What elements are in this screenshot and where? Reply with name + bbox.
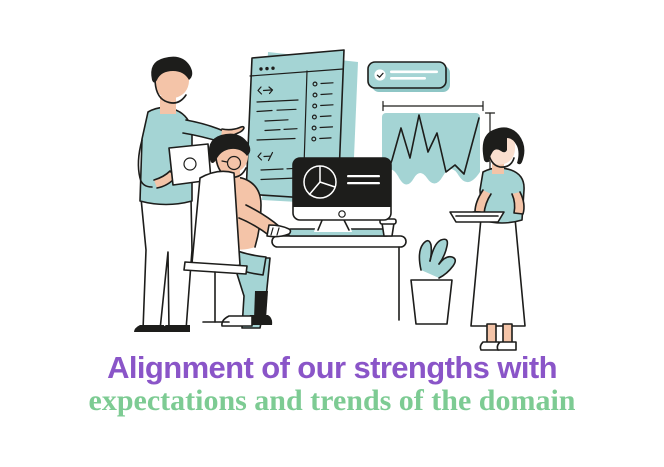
- notification-line-1: [390, 71, 438, 74]
- notification-line-2: [390, 77, 426, 80]
- desktop-monitor[interactable]: [293, 158, 391, 232]
- plant-leaves: [419, 239, 455, 278]
- illustration-svg: .ln { fill:none; stroke:#1d1d1b; stroke-…: [0, 0, 664, 360]
- laptop-held[interactable]: [450, 212, 504, 222]
- man-shoe-left: [134, 325, 164, 332]
- plant-pot-fill: [411, 280, 452, 324]
- woman-shoe-left: [480, 342, 499, 350]
- illustration-artwork: .ln { fill:none; stroke:#1d1d1b; stroke-…: [0, 0, 664, 360]
- desk: [272, 236, 406, 320]
- chart-top-bracket: [383, 102, 483, 111]
- seated-sock: [254, 291, 268, 319]
- slide-root: .ln { fill:none; stroke:#1d1d1b; stroke-…: [0, 0, 664, 467]
- line-chart-board[interactable]: [382, 102, 495, 205]
- potted-plant: [411, 239, 455, 324]
- monitor-text-line-1: [347, 175, 380, 177]
- woman-shoe-right: [497, 342, 516, 350]
- laptop-base: [450, 212, 504, 222]
- caption-line-secondary: expectations and trends of the domain: [0, 385, 664, 417]
- monitor-text-line-2: [347, 182, 380, 184]
- notification-card[interactable]: [368, 62, 450, 92]
- man-shoe-right: [160, 325, 190, 332]
- check-circle-icon: [374, 69, 385, 80]
- caption: Alignment of our strengths with expectat…: [0, 352, 664, 417]
- caption-line-primary: Alignment of our strengths with: [0, 352, 664, 383]
- woman-leg-right: [503, 324, 512, 344]
- woman-leg-left: [487, 324, 496, 344]
